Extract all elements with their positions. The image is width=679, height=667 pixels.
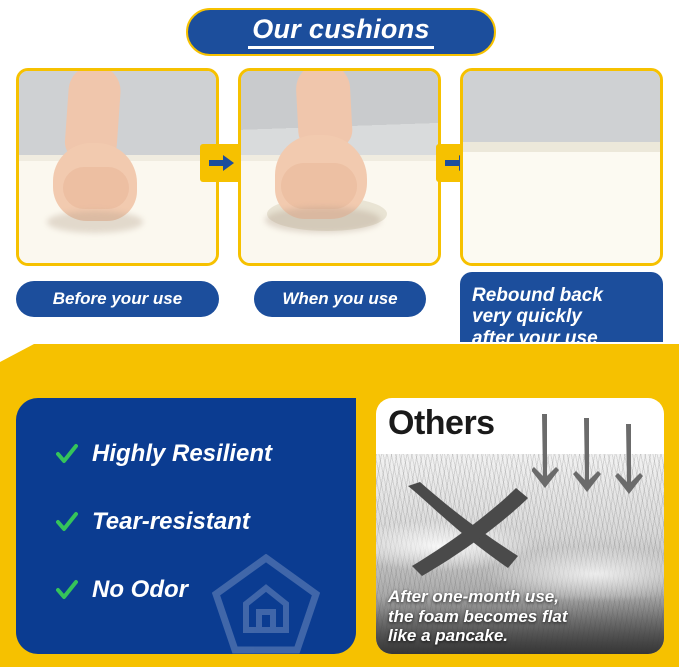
- arrow-down-icon: [615, 424, 643, 494]
- others-caption-line-2: the foam becomes flat: [388, 607, 656, 627]
- fist-shadow: [265, 207, 381, 233]
- caption-when-use: When you use: [254, 281, 426, 317]
- caption-text: Before your use: [53, 289, 182, 309]
- caption-text: When you use: [282, 289, 397, 309]
- photo-when-use: [238, 68, 441, 266]
- title-banner: Our cushions: [186, 8, 496, 56]
- product-infographic: Our cushions: [0, 0, 679, 667]
- yellow-band-corner: [0, 344, 679, 390]
- page-title: Our cushions: [248, 15, 434, 49]
- check-icon: [56, 443, 78, 465]
- caption-line-2: very quickly: [472, 306, 582, 327]
- others-panel: Others After one-month use, the foam bec…: [376, 398, 664, 654]
- house-watermark-icon: [212, 554, 320, 654]
- photo-before-use: [16, 68, 219, 266]
- check-icon: [56, 511, 78, 533]
- photo-rebound: [460, 68, 663, 266]
- feature-label: Highly Resilient: [92, 440, 272, 468]
- others-caption: After one-month use, the foam becomes fl…: [388, 587, 656, 646]
- feature-item-3: No Odor: [56, 576, 188, 604]
- arrow-down-icon: [573, 418, 601, 492]
- knuckle-shading: [63, 167, 129, 209]
- arrow-right-icon: [209, 153, 235, 173]
- pressure-arrows: [532, 414, 652, 502]
- cross-mark-icon: [396, 480, 536, 576]
- feature-label: No Odor: [92, 576, 188, 604]
- check-icon: [56, 579, 78, 601]
- photo-row: [0, 68, 679, 268]
- feature-label: Tear-resistant: [92, 508, 250, 536]
- fist-shadow: [47, 211, 143, 233]
- foam-edge: [463, 142, 660, 152]
- caption-line-1: Rebound back: [472, 285, 603, 306]
- others-heading: Others: [388, 404, 495, 443]
- others-caption-line-3: like a pancake.: [388, 626, 656, 646]
- feature-item-1: Highly Resilient: [56, 440, 272, 468]
- title-banner-box: Our cushions: [186, 8, 496, 56]
- arrow-down-icon: [532, 414, 559, 488]
- feature-item-2: Tear-resistant: [56, 508, 250, 536]
- others-caption-line-1: After one-month use,: [388, 587, 656, 607]
- caption-before-use: Before your use: [16, 281, 219, 317]
- features-panel: Highly Resilient Tear-resistant No Odor: [16, 398, 356, 654]
- knuckle-shading: [281, 163, 357, 209]
- foam-block: [463, 152, 660, 263]
